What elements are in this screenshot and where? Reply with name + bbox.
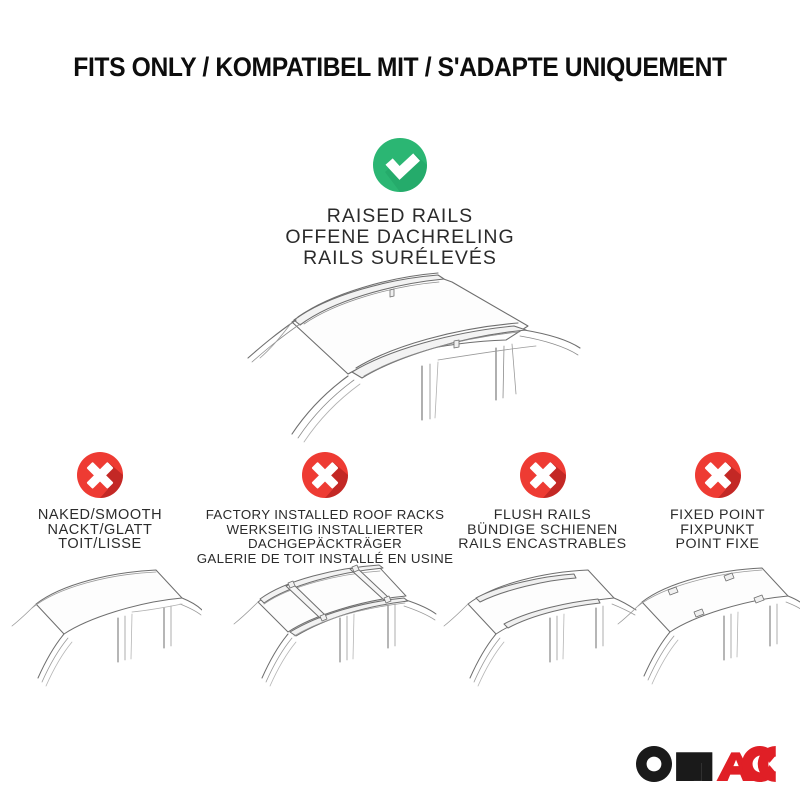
label-line-1: FACTORY INSTALLED ROOF RACKS <box>197 508 454 523</box>
incompatible-section: NAKED/SMOOTH NACKT/GLATT TOIT/LISSE FACT… <box>0 452 800 566</box>
compatible-label-en: RAISED RAILS <box>0 206 800 227</box>
incompatible-labels-fixed-point: FIXED POINT FIXPUNKT POINT FIXE <box>670 508 765 552</box>
compatible-badge-wrap <box>0 138 800 192</box>
label-line-1: FIXED POINT <box>670 508 765 523</box>
car-roof-fixed-point-illustration <box>616 556 800 704</box>
car-roof-flush-rails-illustration <box>440 556 638 704</box>
car-roof-naked-smooth-illustration <box>6 556 202 704</box>
incompatible-column-naked-smooth: NAKED/SMOOTH NACKT/GLATT TOIT/LISSE <box>0 452 200 552</box>
check-circle-icon <box>373 138 427 192</box>
label-line-3: TOIT/LISSE <box>38 537 162 552</box>
incompatible-column-factory-rack: FACTORY INSTALLED ROOF RACKS WERKSEITIG … <box>200 452 450 566</box>
x-circle-icon <box>77 452 123 498</box>
label-line-2: NACKT/GLATT <box>38 523 162 538</box>
label-line-3: RAILS ENCASTRABLES <box>458 537 626 552</box>
label-line-2: WERKSEITIG INSTALLIERTER <box>197 523 454 538</box>
label-line-2: FIXPUNKT <box>670 523 765 538</box>
x-circle-icon <box>520 452 566 498</box>
car-roof-factory-rack-illustration <box>216 556 444 704</box>
incompatible-column-flush-rails: FLUSH RAILS BÜNDIGE SCHIENEN RAILS ENCAS… <box>450 452 635 552</box>
compatible-label-de: OFFENE DACHRELING <box>0 227 800 248</box>
car-roof-raised-rails-illustration <box>176 262 632 458</box>
x-circle-icon <box>302 452 348 498</box>
incompatible-labels-flush-rails: FLUSH RAILS BÜNDIGE SCHIENEN RAILS ENCAS… <box>458 508 626 552</box>
compatible-section: RAISED RAILS OFFENE DACHRELING RAILS SUR… <box>0 138 800 269</box>
bottom-illustrations <box>0 556 800 706</box>
x-circle-icon <box>695 452 741 498</box>
compatible-labels: RAISED RAILS OFFENE DACHRELING RAILS SUR… <box>0 206 800 269</box>
incompatible-column-fixed-point: FIXED POINT FIXPUNKT POINT FIXE <box>635 452 800 552</box>
label-line-3: POINT FIXE <box>670 537 765 552</box>
label-line-3: DACHGEPÄCKTRÄGER <box>197 537 454 552</box>
label-line-1: FLUSH RAILS <box>458 508 626 523</box>
omac-logo <box>636 746 776 782</box>
page-title: FITS ONLY / KOMPATIBEL MIT / S'ADAPTE UN… <box>28 52 772 83</box>
label-line-2: BÜNDIGE SCHIENEN <box>458 523 626 538</box>
label-line-1: NAKED/SMOOTH <box>38 508 162 523</box>
incompatible-labels-naked-smooth: NAKED/SMOOTH NACKT/GLATT TOIT/LISSE <box>38 508 162 552</box>
